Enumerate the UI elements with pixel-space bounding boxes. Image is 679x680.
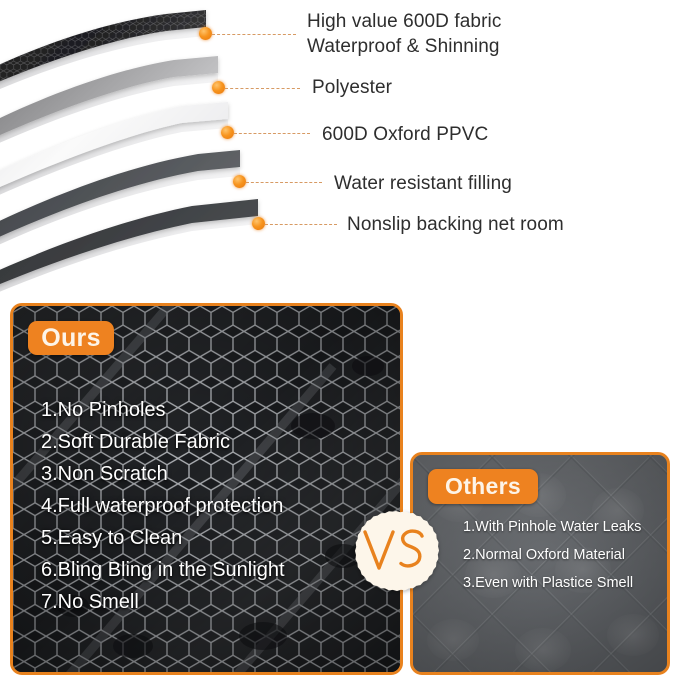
callout-label-layer-3: 600D Oxford PPVC bbox=[322, 122, 488, 147]
callout-dot-layer-5 bbox=[252, 217, 265, 230]
ours-comparison-panel: Ours 1.No Pinholes 2.Soft Durable Fabric… bbox=[10, 303, 403, 675]
list-item: 2.Soft Durable Fabric bbox=[41, 426, 381, 458]
list-item: 7.No Smell bbox=[41, 586, 381, 618]
list-item: 3.Even with Plastice Smell bbox=[463, 569, 668, 597]
infographic-root: High value 600D fabric Waterproof & Shin… bbox=[0, 0, 679, 680]
ours-feature-list: 1.No Pinholes 2.Soft Durable Fabric 3.No… bbox=[41, 394, 381, 618]
callout-line-layer-2 bbox=[225, 88, 300, 89]
callout-line-layer-4 bbox=[246, 182, 322, 183]
callout-label-layer-2: Polyester bbox=[312, 75, 392, 100]
others-feature-list: 1.With Pinhole Water Leaks 2.Normal Oxfo… bbox=[463, 513, 668, 597]
callout-line-layer-1 bbox=[212, 34, 296, 35]
callout-line-layer-3 bbox=[234, 133, 310, 134]
list-item: 1.With Pinhole Water Leaks bbox=[463, 513, 668, 541]
callout-dot-layer-3 bbox=[221, 126, 234, 139]
callout-dot-layer-4 bbox=[233, 175, 246, 188]
vs-badge: VS bbox=[349, 509, 443, 603]
callout-label-layer-4: Water resistant filling bbox=[334, 171, 512, 196]
list-item: 3.Non Scratch bbox=[41, 458, 381, 490]
callout-label-layer-1-line1: High value 600D fabric bbox=[307, 9, 501, 34]
list-item: 4.Full waterproof protection bbox=[41, 490, 381, 522]
callout-label-layer-1-line2: Waterproof & Shinning bbox=[307, 34, 501, 59]
callout-dot-layer-2 bbox=[212, 81, 225, 94]
others-badge: Others bbox=[428, 469, 538, 504]
list-item: 2.Normal Oxford Material bbox=[463, 541, 668, 569]
layer-diagram-section: High value 600D fabric Waterproof & Shin… bbox=[0, 0, 679, 300]
fabric-layer-illustration bbox=[0, 0, 300, 300]
list-item: 5.Easy to Clean bbox=[41, 522, 381, 554]
list-item: 1.No Pinholes bbox=[41, 394, 381, 426]
callout-label-layer-5: Nonslip backing net room bbox=[347, 212, 564, 237]
list-item: 6.Bling Bling in the Sunlight bbox=[41, 554, 381, 586]
ours-badge: Ours bbox=[28, 321, 114, 355]
callout-dot-layer-1 bbox=[199, 27, 212, 40]
callout-label-layer-1: High value 600D fabric Waterproof & Shin… bbox=[307, 9, 501, 59]
others-comparison-panel: Others 1.With Pinhole Water Leaks 2.Norm… bbox=[410, 452, 670, 675]
callout-line-layer-5 bbox=[265, 224, 337, 225]
